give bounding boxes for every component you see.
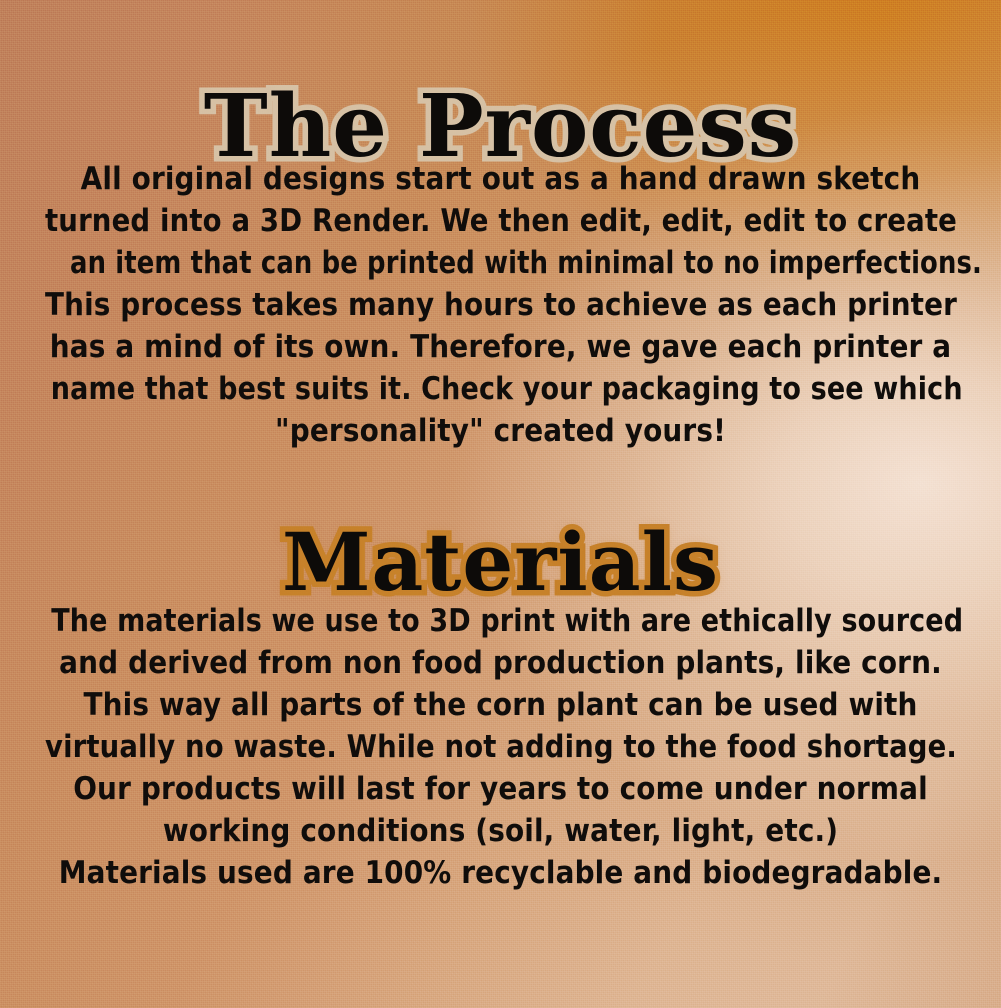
- section-heading-process: The Process: [0, 84, 1001, 170]
- body-line: virtually no waste. While not adding to …: [42, 726, 959, 768]
- body-line: Materials used are 100% recyclable and b…: [36, 852, 966, 894]
- body-line: has a mind of its own. Therefore, we gav…: [36, 326, 966, 368]
- body-line: "personality" created yours!: [36, 410, 966, 452]
- body-line: working conditions (soil, water, light, …: [36, 810, 966, 852]
- body-line: turned into a 3D Render. We then edit, e…: [41, 200, 959, 242]
- body-line: This way all parts of the corn plant can…: [36, 684, 966, 726]
- body-line: an item that can be printed with minimal…: [70, 242, 932, 284]
- section-body-process: All original designs start out as a hand…: [36, 158, 966, 452]
- card-content: The Process All original designs start o…: [0, 0, 1001, 1008]
- body-line: All original designs start out as a hand…: [36, 158, 966, 200]
- info-card: The Process All original designs start o…: [0, 0, 1001, 1008]
- body-line: and derived from non food production pla…: [36, 642, 966, 684]
- body-line: The materials we use to 3D print with ar…: [51, 600, 951, 642]
- section-heading-materials: Materials: [0, 522, 1001, 602]
- body-line: Our products will last for years to come…: [36, 768, 966, 810]
- section-body-materials: The materials we use to 3D print with ar…: [36, 600, 966, 894]
- body-line: This process takes many hours to achieve…: [37, 284, 964, 326]
- body-line: name that best suits it. Check your pack…: [50, 368, 951, 410]
